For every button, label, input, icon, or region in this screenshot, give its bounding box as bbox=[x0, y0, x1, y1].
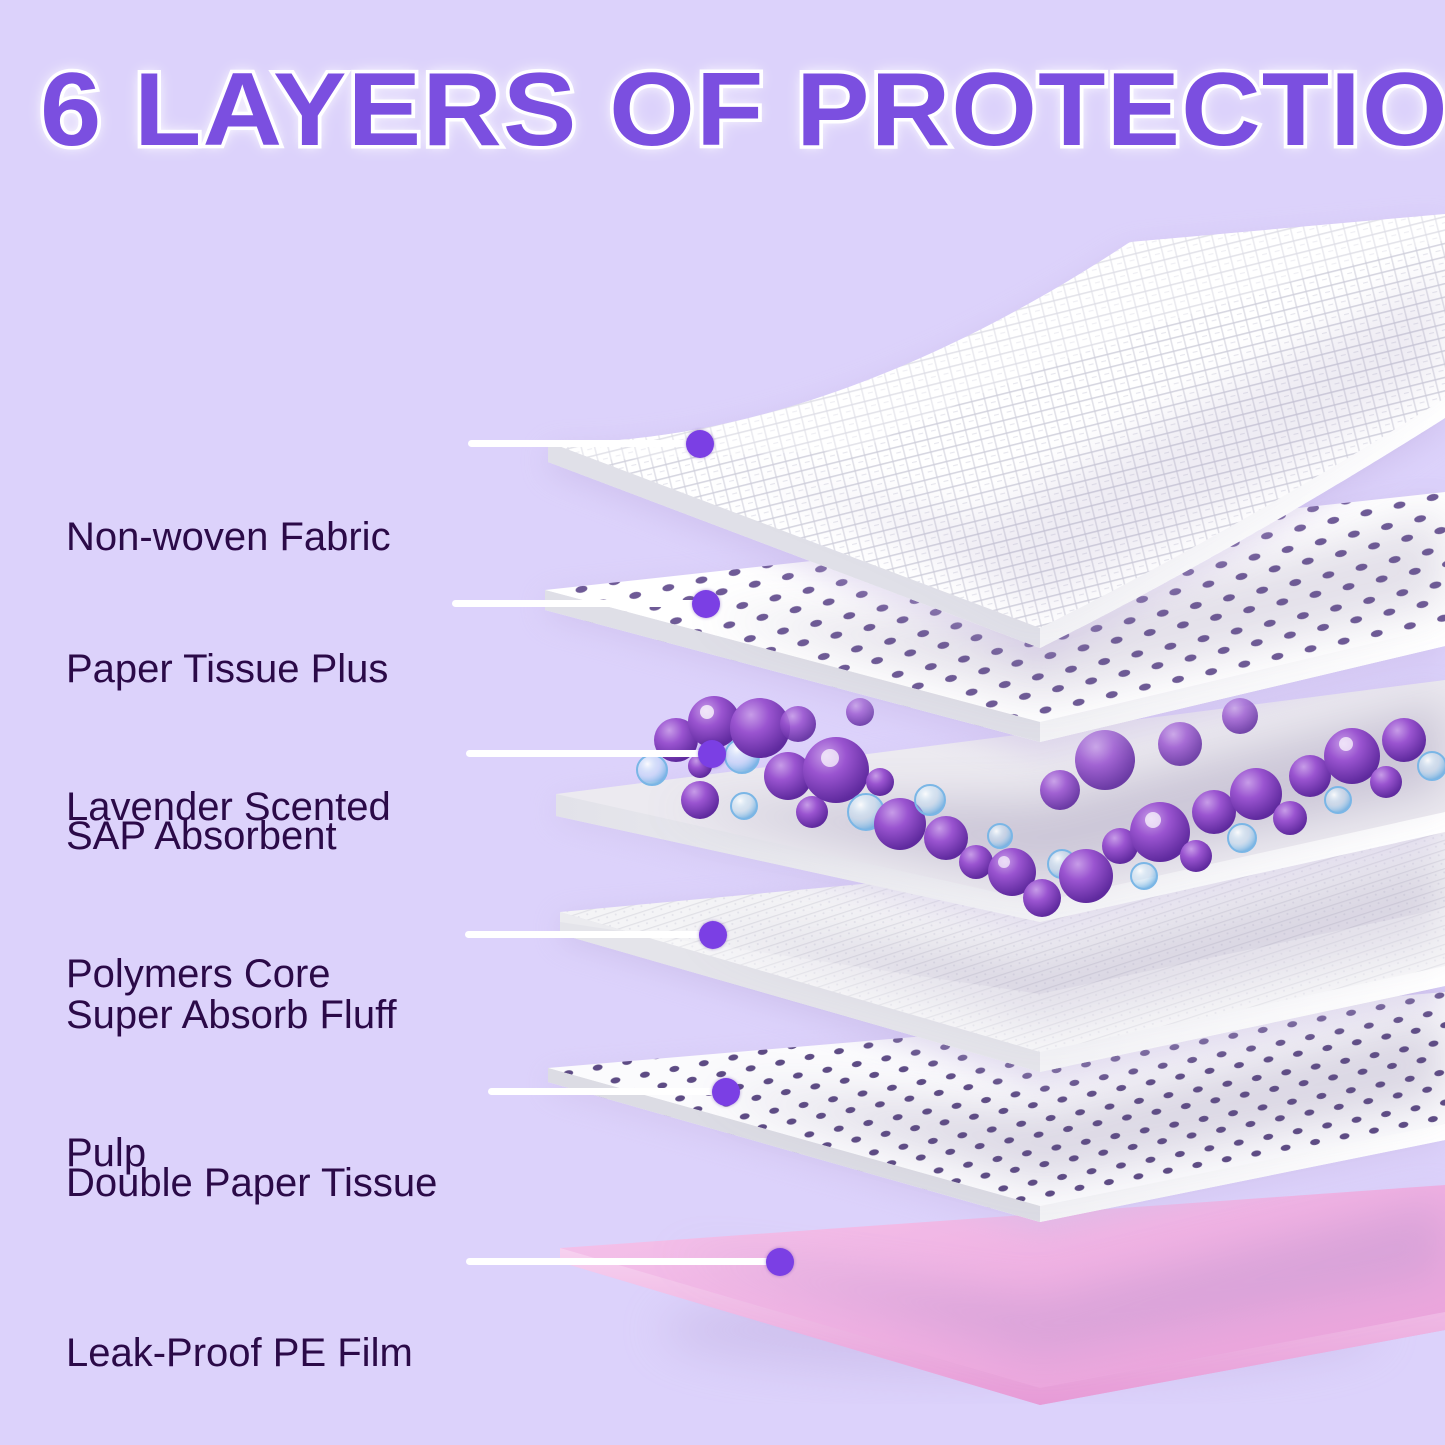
leader-line-sap-core bbox=[466, 750, 704, 757]
leader-line-non-woven-fabric bbox=[468, 440, 690, 447]
marker-dot-non-woven-fabric bbox=[686, 430, 714, 458]
infographic-canvas: 6 LAYERS OF PROTECTION Non-woven Fabric … bbox=[0, 0, 1445, 1445]
marker-dot-paper-tissue-lavender bbox=[692, 590, 720, 618]
label-line: Double Paper Tissue bbox=[66, 1160, 437, 1206]
label-line: Super Absorb Fluff bbox=[66, 992, 397, 1038]
leader-line-double-paper-tissue bbox=[488, 1088, 716, 1095]
label-leak-proof-pe-film: Leak-Proof PE Film bbox=[66, 1238, 413, 1445]
page-title: 6 LAYERS OF PROTECTION bbox=[40, 58, 1445, 162]
label-line: SAP Absorbent bbox=[66, 813, 337, 859]
leader-line-leak-proof-pe-film bbox=[466, 1258, 770, 1265]
leader-line-paper-tissue-lavender bbox=[452, 600, 698, 607]
marker-dot-leak-proof-pe-film bbox=[766, 1248, 794, 1276]
marker-dot-sap-core bbox=[698, 740, 726, 768]
marker-dot-fluff-pulp bbox=[699, 921, 727, 949]
label-line: Paper Tissue Plus bbox=[66, 646, 391, 692]
label-line: Leak-Proof PE Film bbox=[66, 1330, 413, 1376]
marker-dot-double-paper-tissue bbox=[712, 1078, 740, 1106]
leader-line-fluff-pulp bbox=[465, 931, 705, 938]
